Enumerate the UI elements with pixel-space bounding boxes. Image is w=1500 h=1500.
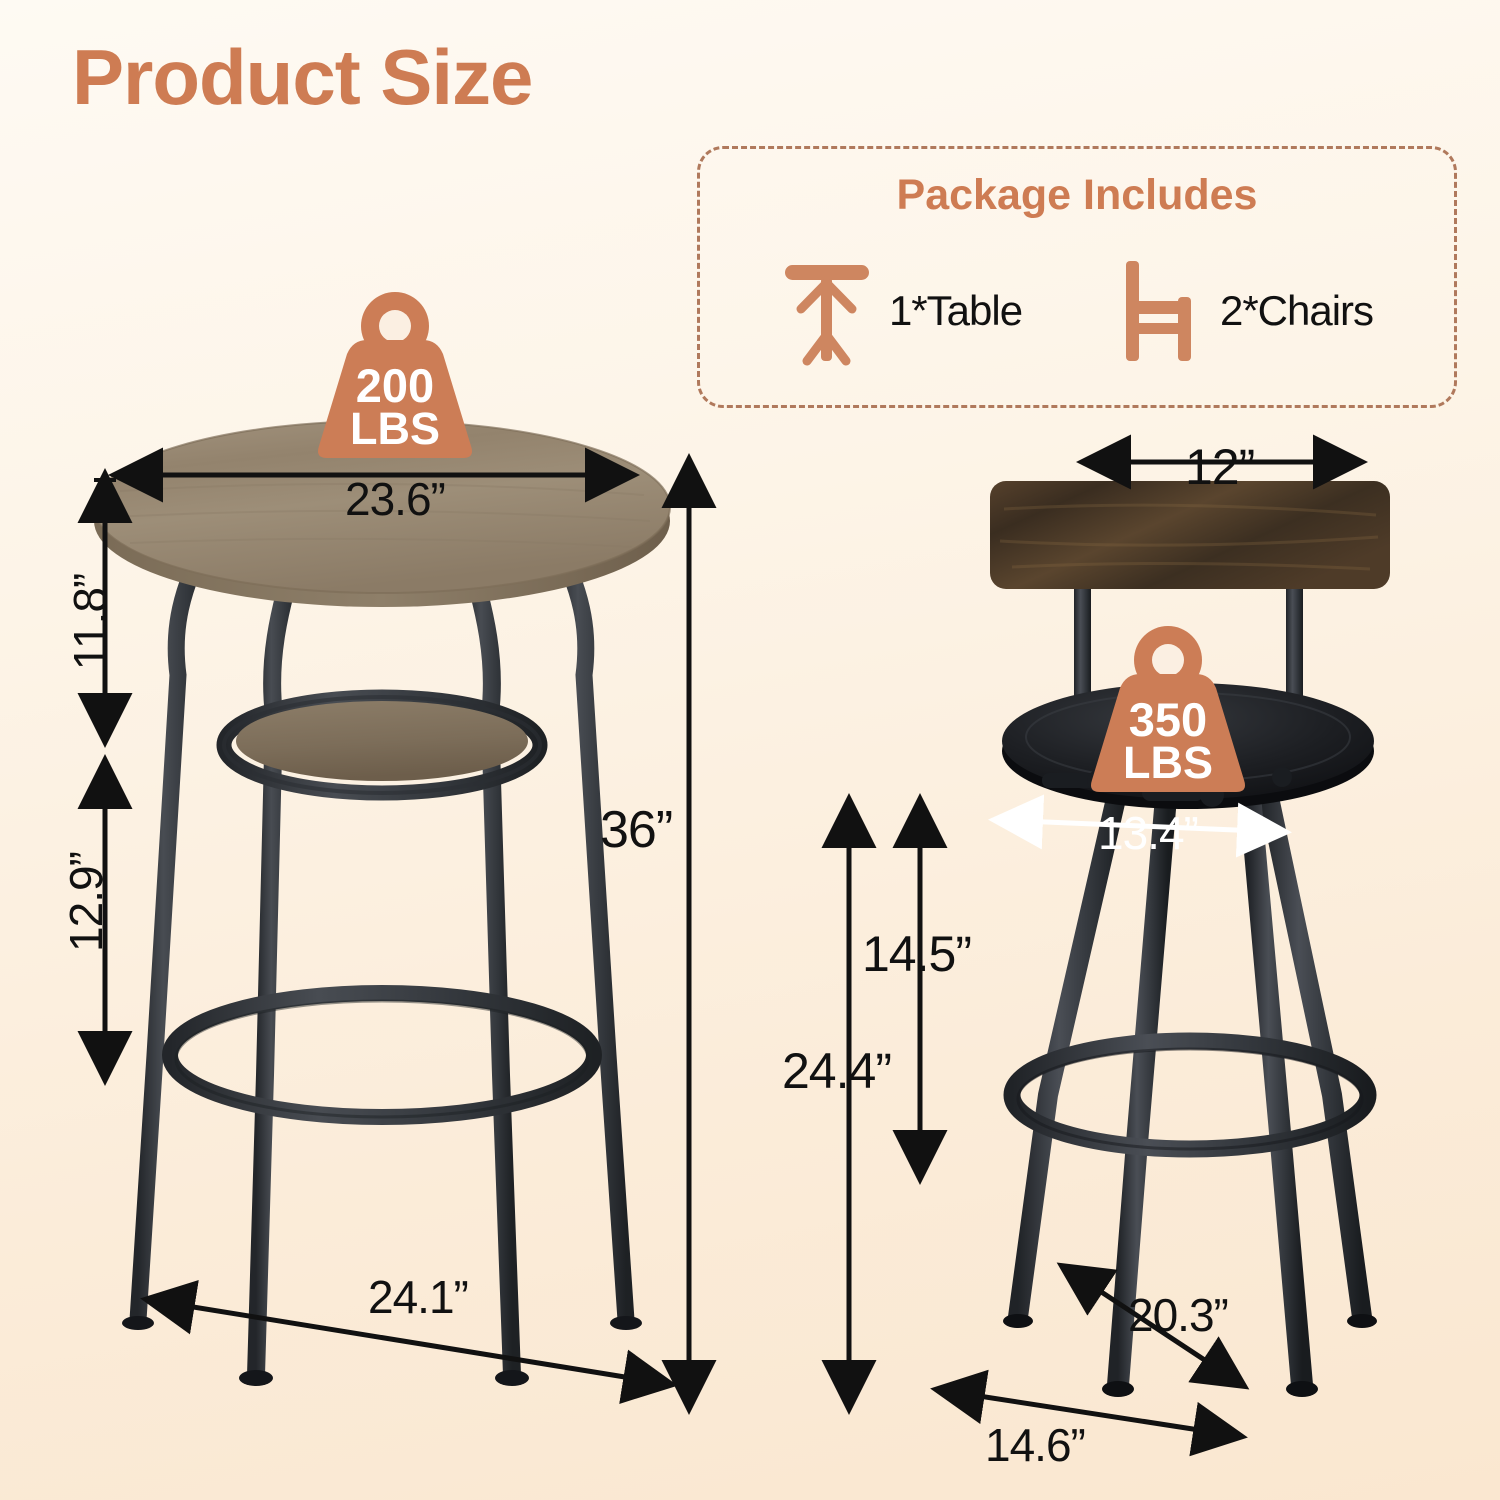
chair-icon — [1112, 257, 1204, 365]
package-item-table: 1*Table — [781, 257, 1022, 365]
chair-weight-unit: LBS — [1078, 740, 1258, 786]
table-total-height-arrow — [672, 455, 706, 1415]
table-upper-height-label: 11.8” — [63, 522, 117, 722]
package-item-chairs-label: 2*Chairs — [1220, 287, 1373, 335]
chair-seat-width-label: 13.4” — [1098, 806, 1198, 860]
chair-leg-diagonal-label: 20.3” — [1128, 1288, 1228, 1342]
table-total-height-label: 36” — [600, 800, 672, 860]
table-weight-badge: 200 LBS — [305, 288, 485, 460]
table-icon — [781, 257, 873, 365]
package-items-row: 1*Table 2*Chairs — [700, 257, 1454, 365]
chair-seat-height-arrow — [832, 795, 866, 1415]
chair-seat-height-label: 24.4” — [782, 1042, 891, 1100]
table-weight-unit: LBS — [305, 406, 485, 452]
chair-seat-to-footrest-label: 14.5” — [862, 925, 971, 983]
chair-leg-front-arrow — [930, 1380, 1250, 1450]
table-top-diameter-label: 23.6” — [345, 472, 445, 526]
package-includes-box: Package Includes 1*Table — [697, 146, 1457, 408]
infographic-canvas: Product Size Package Includes 1*Table — [0, 0, 1500, 1500]
table-base-width-label: 24.1” — [368, 1270, 468, 1324]
package-item-chairs: 2*Chairs — [1112, 257, 1373, 365]
chair-seat-to-footrest-arrow — [903, 795, 937, 1185]
chair-weight-badge: 350 LBS — [1078, 622, 1258, 794]
package-item-table-label: 1*Table — [889, 287, 1022, 335]
chair-backrest-width-label: 12” — [1185, 438, 1254, 496]
table-lower-height-label: 12.9” — [59, 802, 113, 1002]
chair-leg-front-label: 14.6” — [985, 1418, 1085, 1472]
package-includes-title: Package Includes — [700, 171, 1454, 220]
page-title: Product Size — [72, 38, 532, 116]
